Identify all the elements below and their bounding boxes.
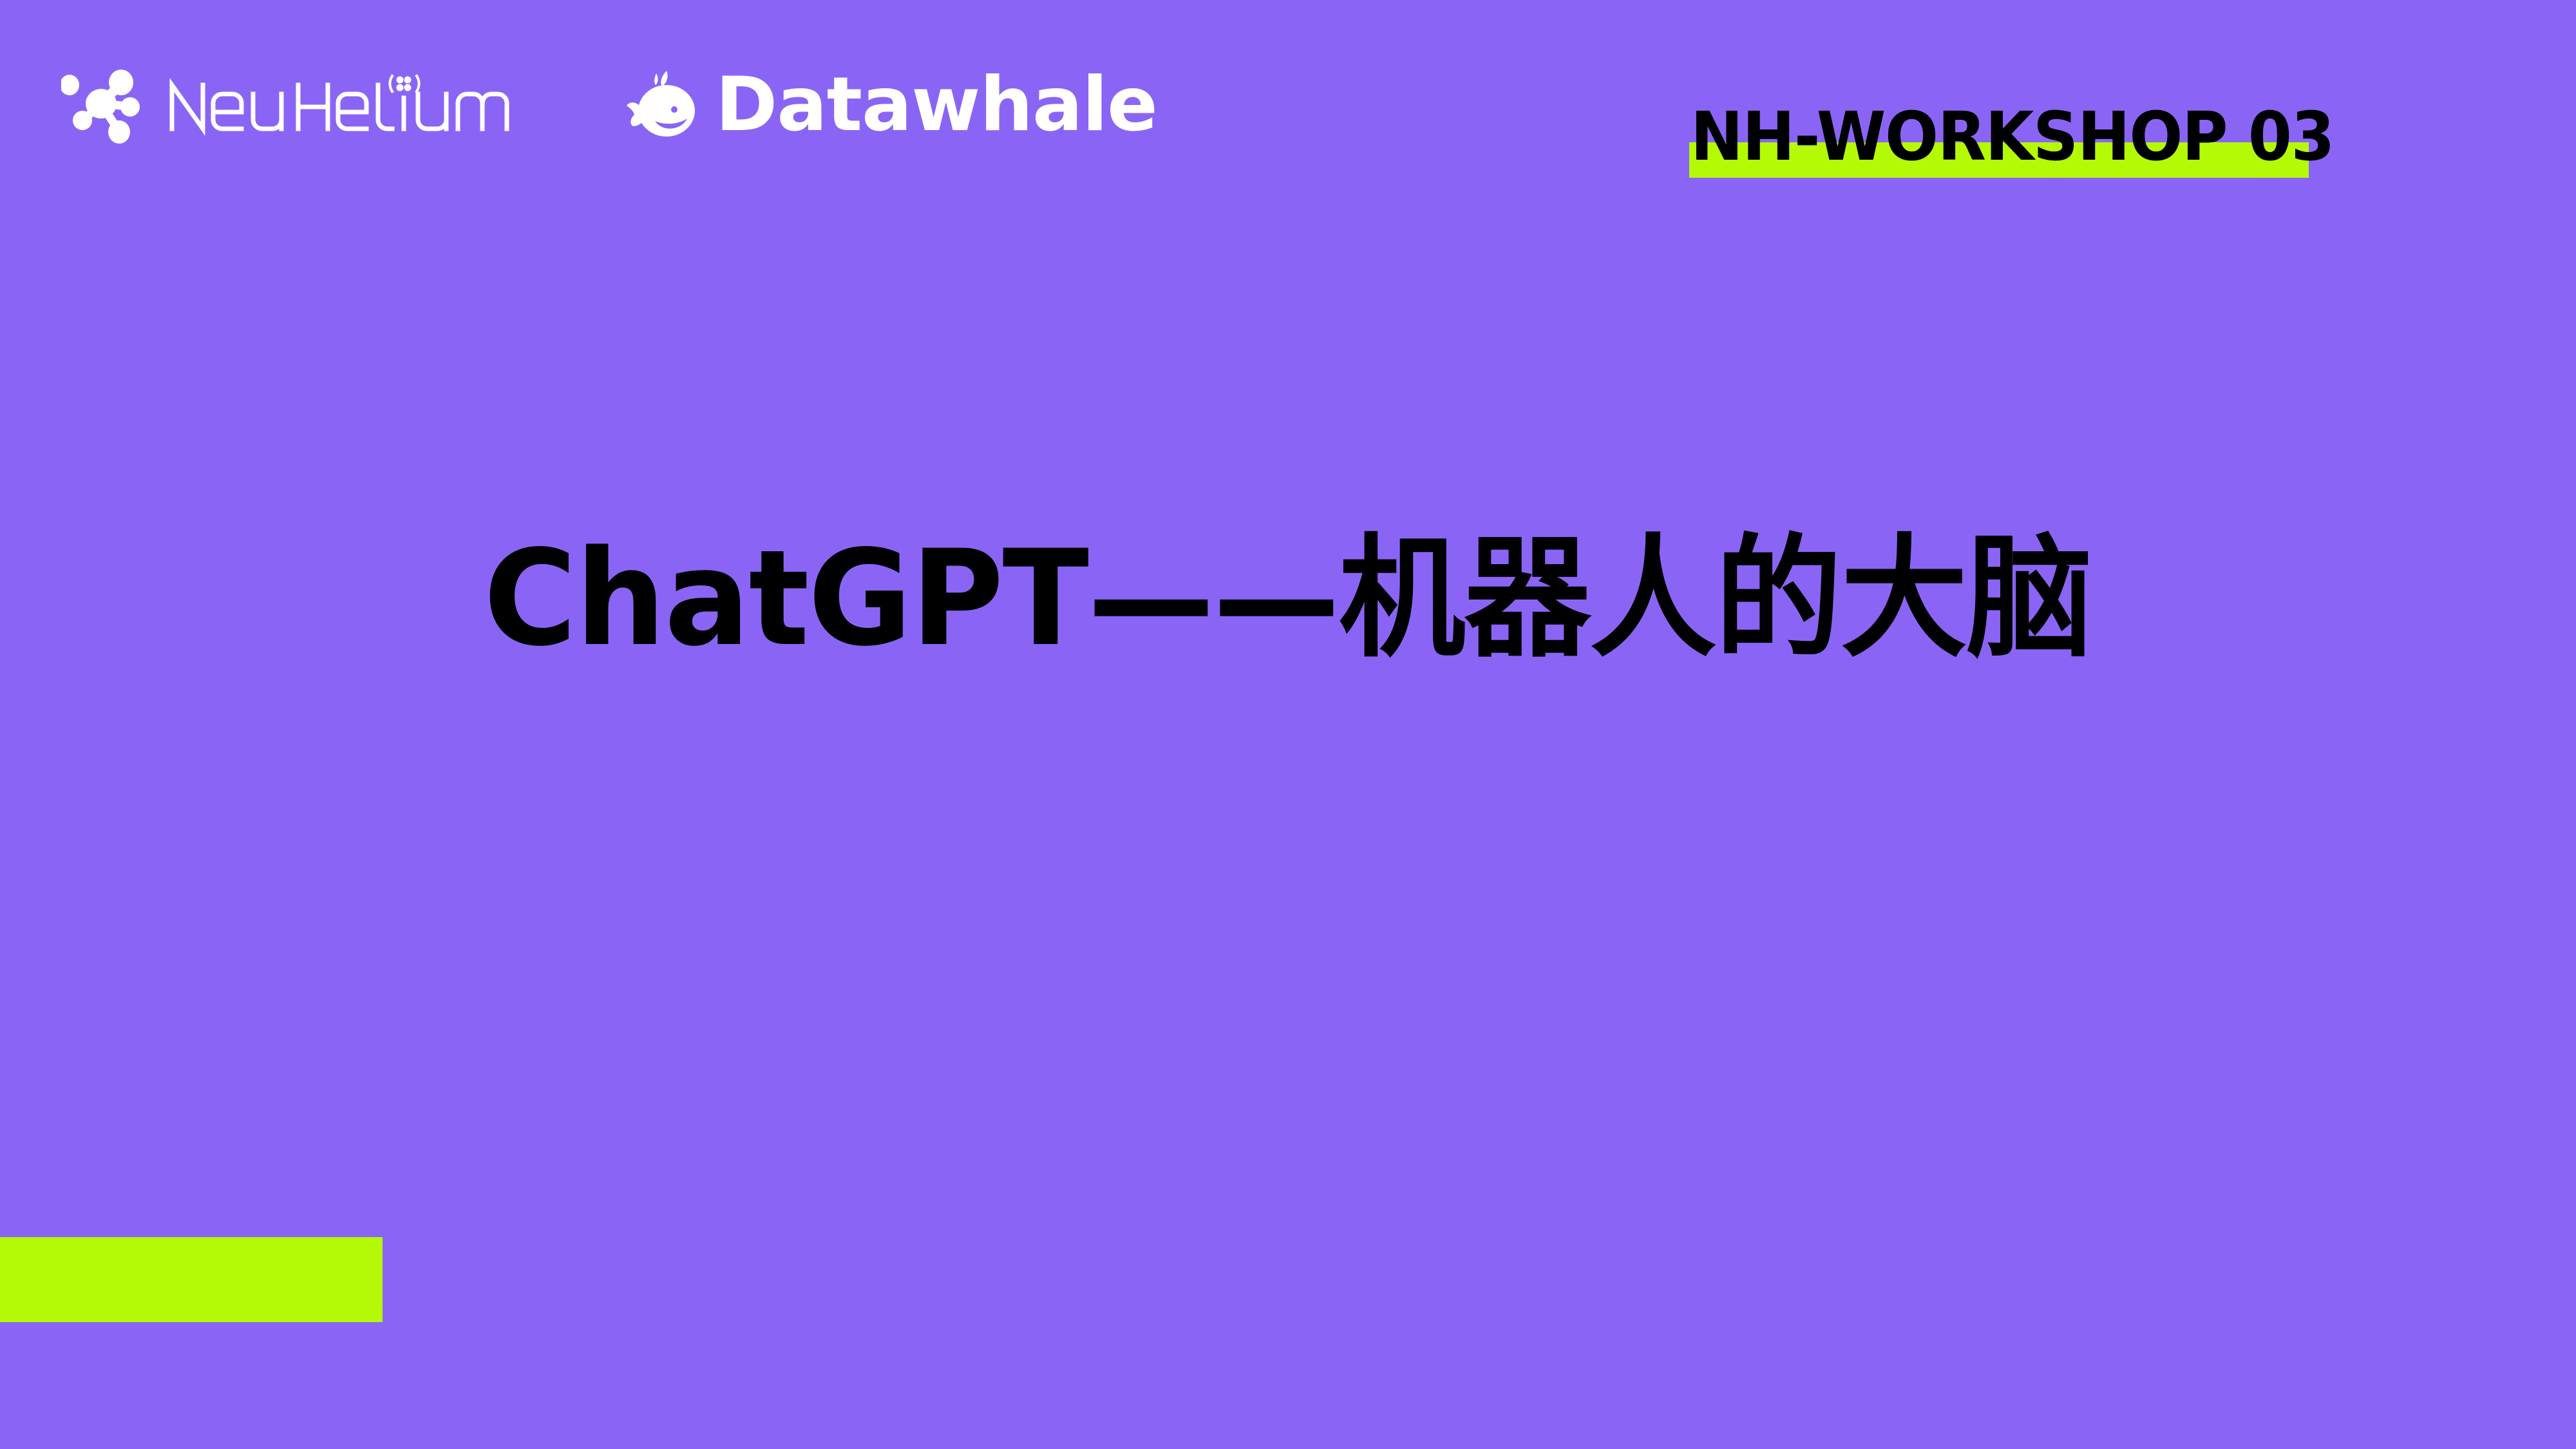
datawhale-logo: Datawhale <box>623 66 1157 144</box>
badge-label: NH-WORKSHOP 03 <box>1690 103 2334 170</box>
slide-title-text: ChatGPT——机器人的大脑 <box>484 528 2092 670</box>
brand-bar: Datawhale <box>61 61 1157 149</box>
page-title: ChatGPT——机器人的大脑 <box>0 528 2576 670</box>
accent-block <box>0 1237 383 1322</box>
workshop-badge: NH-WORKSHOP 03 <box>1689 103 2314 193</box>
molecule-icon <box>61 61 149 149</box>
neuhelium-wordmark <box>166 70 526 140</box>
whale-icon <box>623 66 701 144</box>
neuhelium-logo <box>61 61 526 149</box>
slide-root: Datawhale NH-WORKSHOP 03 ChatGPT——机器人的大脑 <box>0 0 2576 1449</box>
datawhale-wordmark: Datawhale <box>715 68 1157 142</box>
